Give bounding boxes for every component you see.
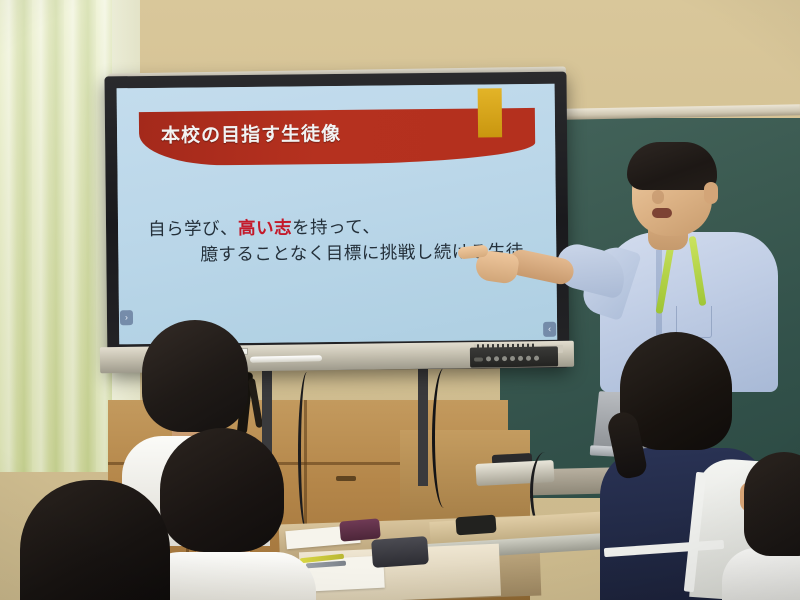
- cable: [298, 372, 316, 532]
- control-button[interactable]: [486, 356, 491, 361]
- control-button[interactable]: [534, 356, 539, 361]
- slide-accent-block: [478, 88, 503, 137]
- control-button[interactable]: [518, 356, 523, 361]
- control-button[interactable]: [510, 356, 515, 361]
- display-stand-leg: [418, 366, 428, 486]
- screen-toolbar-handle-left[interactable]: ›: [120, 310, 133, 325]
- cabinet-handle[interactable]: [336, 476, 356, 481]
- cable: [432, 368, 456, 508]
- control-button[interactable]: [502, 356, 507, 361]
- slide-body-line-1: 自ら学び、高い志を持って、: [148, 212, 548, 242]
- window-curtain: [0, 0, 112, 472]
- display-control-panel[interactable]: [470, 346, 558, 367]
- teacher-hair: [627, 142, 717, 190]
- pencil-case: [371, 536, 429, 568]
- presentation-slide: 本校の目指す生徒像 自ら学び、高い志を持って、 臆することなく目標に挑戦し続ける…: [117, 84, 558, 345]
- control-button[interactable]: [494, 356, 499, 361]
- control-button-row[interactable]: [474, 356, 539, 362]
- slide-body-highlight: 高い志: [238, 217, 292, 238]
- pencil-case: [339, 518, 381, 541]
- slide-title-band: 本校の目指す生徒像: [139, 108, 536, 166]
- teacher-ear: [704, 182, 718, 204]
- teacher-nose: [652, 190, 664, 204]
- classroom-photo-scene: 本校の目指す生徒像 自ら学び、高い志を持って、 臆することなく目標に挑戦し続ける…: [0, 0, 800, 600]
- student-head-foreground-left: [20, 480, 170, 600]
- display-screen[interactable]: 本校の目指す生徒像 自ら学び、高い志を持って、 臆することなく目標に挑戦し続ける…: [117, 84, 558, 345]
- desk-object: [455, 515, 496, 536]
- power-button[interactable]: [474, 357, 483, 361]
- teacher-mouth: [652, 208, 672, 218]
- slide-title: 本校の目指す生徒像: [161, 119, 341, 148]
- screen-toolbar-handle-right[interactable]: ‹: [543, 322, 556, 337]
- student-head-back-middle: [160, 428, 284, 552]
- control-button[interactable]: [526, 356, 531, 361]
- student-head-right-edge: [744, 452, 800, 556]
- slide-body-line-1-suffix: を持って、: [292, 217, 380, 238]
- student-head-back-left: [142, 320, 248, 432]
- slide-body-line-1-prefix: 自ら学び、: [148, 218, 238, 239]
